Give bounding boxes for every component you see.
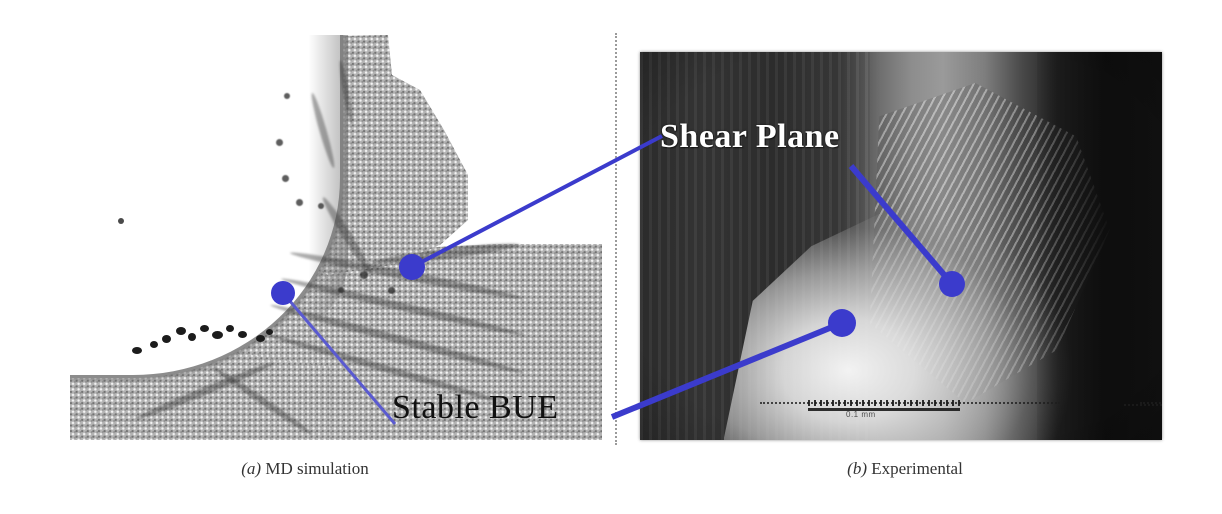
panel-md-simulation: [70, 35, 602, 440]
md-vacancy-spot: [284, 93, 290, 99]
annotation-label-stable-bue: Stable BUE: [392, 389, 558, 427]
caption-b-prefix: (b): [847, 459, 867, 478]
md-debris-atom: [150, 341, 158, 348]
exp-scalebar-label: 0.1 mm: [846, 410, 876, 419]
panel-divider: [615, 33, 617, 445]
md-vacancy-spot: [360, 271, 368, 279]
exp-scalebar-ticks: [808, 400, 960, 406]
panel-experimental: 0.1 mm: [640, 52, 1162, 440]
md-debris-atom: [266, 329, 273, 335]
exp-reference-dotline: [1124, 404, 1162, 406]
caption-panel-a: (a) MD simulation: [190, 459, 420, 479]
md-debris-atom: [200, 325, 209, 332]
md-debris-atom: [238, 331, 247, 338]
md-debris-atom: [188, 333, 196, 341]
md-vacancy-spot: [338, 287, 344, 293]
md-debris-atom: [212, 331, 223, 339]
figure-root: 0.1 mm Shear Plane Stable BUE (a) MD sim…: [0, 0, 1222, 514]
caption-b-text: Experimental: [871, 459, 963, 478]
md-stray-atom: [118, 218, 124, 224]
annotation-label-shear-plane: Shear Plane: [660, 118, 840, 156]
md-vacancy-spot: [388, 287, 395, 294]
md-vacancy-spot: [296, 199, 303, 206]
exp-vignette: [640, 52, 1162, 440]
md-debris-atom: [132, 347, 142, 354]
md-vacancy-spot: [282, 175, 289, 182]
md-vacancy-spot: [318, 203, 324, 209]
md-vacancy-spot: [276, 139, 283, 146]
caption-a-text: MD simulation: [265, 459, 368, 478]
md-debris-atom: [162, 335, 171, 343]
caption-a-prefix: (a): [241, 459, 261, 478]
md-debris-atom: [226, 325, 234, 332]
caption-panel-b: (b) Experimental: [790, 459, 1020, 479]
md-debris-atom: [176, 327, 186, 335]
exp-scalebar: [808, 408, 960, 411]
md-debris-atom: [256, 335, 265, 342]
